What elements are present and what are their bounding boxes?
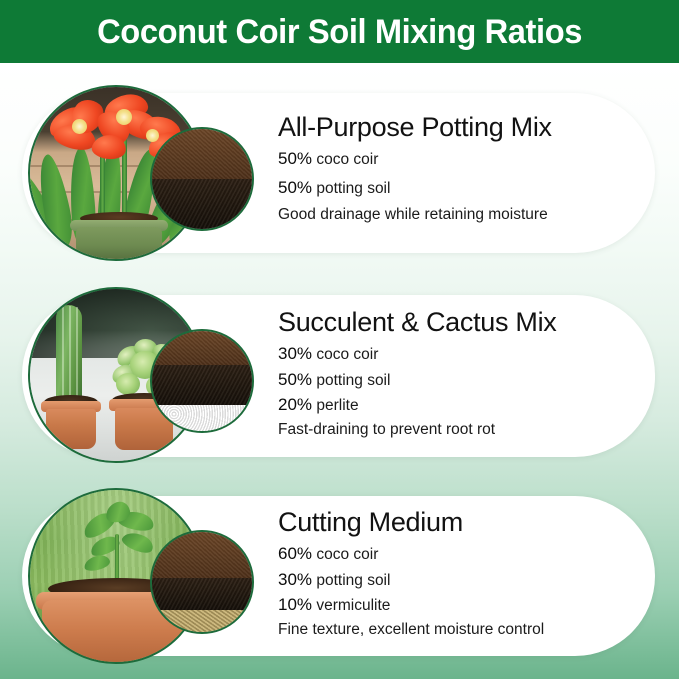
spec-percent: 30% [278, 570, 312, 589]
spec-percent: 50% [278, 149, 312, 168]
soil-sample-circle [150, 127, 254, 231]
spec-label: potting soil [316, 372, 390, 389]
card-media [28, 85, 268, 261]
card-title: Cutting Medium [278, 507, 658, 538]
spec-line: 30% potting soil [278, 571, 658, 589]
spec-label: perlite [316, 397, 358, 414]
card-text: Cutting Medium 60% coco coir 30% potting… [278, 496, 658, 656]
card-title: All-Purpose Potting Mix [278, 112, 658, 143]
card-note: Good drainage while retaining moisture [278, 207, 658, 223]
mix-card[interactable]: All-Purpose Potting Mix 50% coco coir 50… [22, 93, 655, 253]
spec-label: coco coir [316, 546, 378, 563]
spec-line: 50% coco coir [278, 150, 658, 168]
spec-label: potting soil [316, 572, 390, 589]
spec-line: 50% potting soil [278, 179, 658, 197]
spec-percent: 50% [278, 178, 312, 197]
spec-line: 50% potting soil [278, 371, 658, 389]
card-note: Fine texture, excellent moisture control [278, 622, 658, 638]
spec-percent: 10% [278, 595, 312, 614]
spec-label: potting soil [316, 180, 390, 197]
card-title: Succulent & Cactus Mix [278, 307, 658, 338]
card-note: Fast-draining to prevent root rot [278, 422, 658, 438]
card-media [28, 287, 268, 463]
card-text: Succulent & Cactus Mix 30% coco coir 50%… [278, 295, 658, 457]
spec-label: coco coir [316, 151, 378, 168]
spec-percent: 60% [278, 544, 312, 563]
page-title: Coconut Coir Soil Mixing Ratios [97, 15, 582, 49]
spec-line: 30% coco coir [278, 345, 658, 363]
mix-card[interactable]: Cutting Medium 60% coco coir 30% potting… [22, 496, 655, 656]
soil-sample-circle [150, 530, 254, 634]
spec-percent: 50% [278, 370, 312, 389]
spec-percent: 30% [278, 344, 312, 363]
header-banner: Coconut Coir Soil Mixing Ratios [0, 0, 679, 63]
spec-label: vermiculite [316, 597, 390, 614]
spec-percent: 20% [278, 395, 312, 414]
soil-sample-circle [150, 329, 254, 433]
spec-label: coco coir [316, 346, 378, 363]
card-text: All-Purpose Potting Mix 50% coco coir 50… [278, 93, 658, 253]
mix-card[interactable]: Succulent & Cactus Mix 30% coco coir 50%… [22, 295, 655, 457]
spec-line: 60% coco coir [278, 545, 658, 563]
spec-line: 20% perlite [278, 396, 658, 414]
card-media [28, 488, 268, 664]
spec-line: 10% vermiculite [278, 596, 658, 614]
